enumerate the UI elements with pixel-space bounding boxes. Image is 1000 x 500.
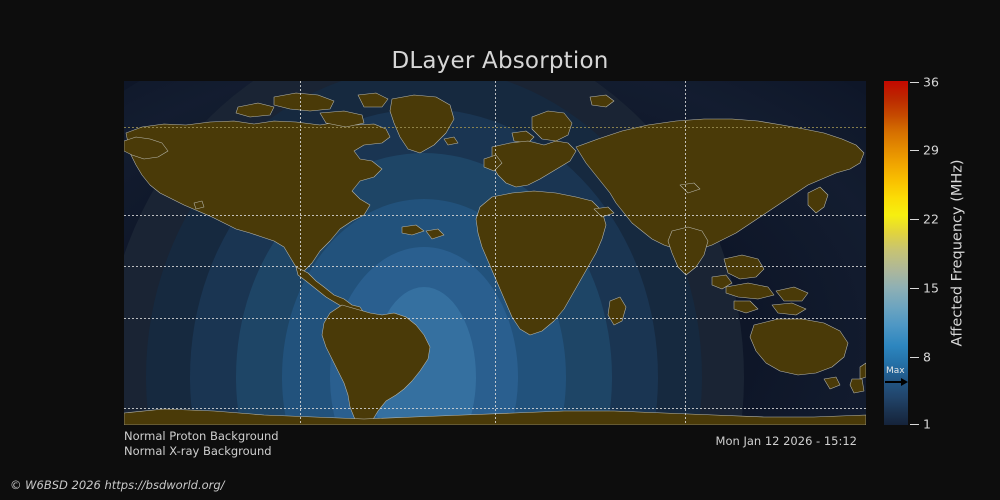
landmass-layer (124, 81, 866, 425)
colorbar-tick-8 (910, 357, 919, 358)
colorbar-axis-label-wrap: Affected Frequency (MHz) (948, 81, 968, 425)
colorbar-ticklabel-36: 36 (923, 75, 939, 90)
colorbar-max-arrow-icon (885, 377, 908, 386)
colorbar-max-label: Max (885, 367, 908, 376)
colorbar-max-marker: Max (885, 367, 908, 386)
colorbar-axis-label: Affected Frequency (MHz) (950, 159, 966, 346)
colorbar-tick-36 (910, 82, 919, 83)
colorbar[interactable]: 36 29 22 15 8 1 Max Affected Frequency (… (884, 81, 908, 425)
footer-credit: © W6BSD 2026 https://bsdworld.org/ (10, 478, 225, 492)
colorbar-tick-29 (910, 150, 919, 151)
page-title: DLayer Absorption (0, 48, 1000, 74)
world-map-panel[interactable] (124, 81, 866, 425)
colorbar-ticklabel-15: 15 (923, 281, 939, 296)
app-root: DLayer Absorption (0, 0, 1000, 500)
colorbar-tick-15 (910, 288, 919, 289)
proton-background-text: Normal Proton Background (124, 429, 279, 444)
colorbar-tick-22 (910, 219, 919, 220)
xray-background-text: Normal X-ray Background (124, 444, 279, 459)
colorbar-ticklabel-22: 22 (923, 212, 939, 227)
colorbar-ticklabel-29: 29 (923, 143, 939, 158)
colorbar-ticklabel-8: 8 (923, 350, 931, 365)
colorbar-ticklabel-1: 1 (923, 417, 931, 432)
timestamp-label: Mon Jan 12 2026 - 15:12 (716, 434, 857, 448)
colorbar-tick-1 (910, 424, 919, 425)
background-conditions: Normal Proton Background Normal X-ray Ba… (124, 429, 279, 459)
